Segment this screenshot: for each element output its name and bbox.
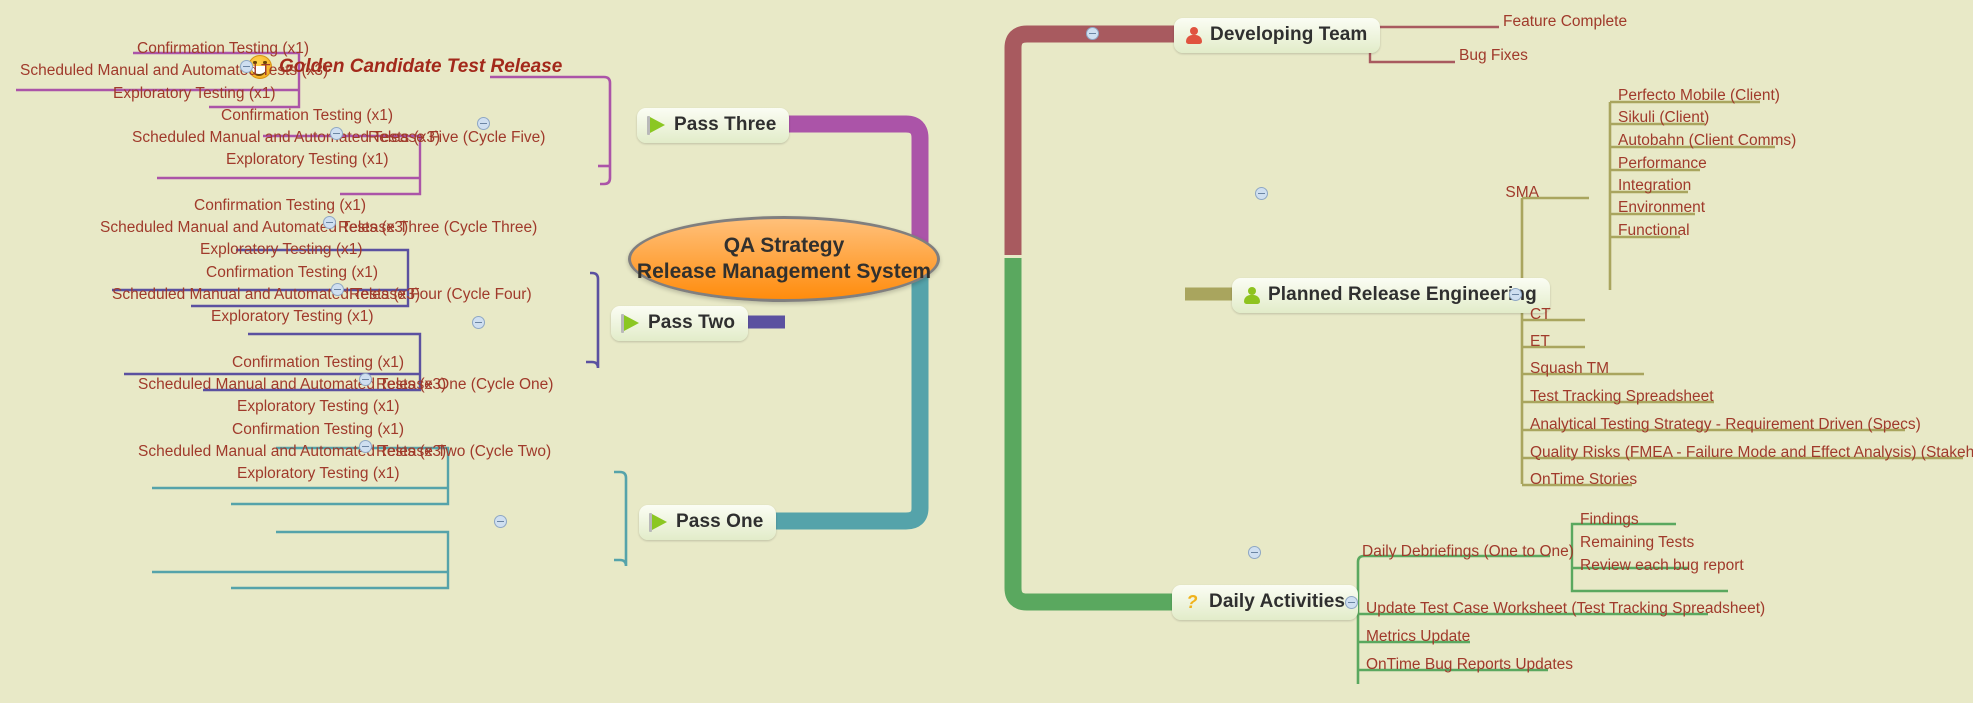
green-flag-icon (647, 116, 667, 135)
leaf-ontime-bug-reports-updates[interactable]: OnTime Bug Reports Updates (1362, 655, 1577, 676)
main-topic-pass-two[interactable]: Pass Two (611, 306, 748, 341)
leaf-exploratory-testing[interactable]: Exploratory Testing (x1) (196, 240, 367, 261)
root-title-line2: Release Management System (637, 259, 931, 285)
person-icon (1242, 286, 1261, 305)
leaf-findings[interactable]: Findings (1576, 510, 1643, 531)
collapse-toggle-pass-one[interactable] (494, 515, 507, 528)
leaf-test-tracking-spreadsheet[interactable]: Test Tracking Spreadsheet (1526, 387, 1718, 408)
leaf-ct[interactable]: CT (1526, 305, 1555, 326)
leaf-exploratory-testing[interactable]: Exploratory Testing (x1) (109, 84, 280, 105)
leaf-scheduled-tests[interactable]: Scheduled Manual and Automated Tests (x3… (134, 442, 450, 463)
leaf-ontime-stories[interactable]: OnTime Stories (1526, 470, 1641, 491)
leaf-scheduled-tests[interactable]: Scheduled Manual and Automated Tests (x3… (96, 218, 412, 239)
leaf-functional[interactable]: Functional (1614, 221, 1694, 242)
main-topic-label: Developing Team (1210, 24, 1367, 46)
collapse-toggle-golden-candidate[interactable] (240, 60, 253, 73)
collapse-toggle-sma[interactable] (1255, 187, 1268, 200)
collapse-toggle-developing-team[interactable] (1086, 27, 1099, 40)
root-title-line1: QA Strategy (724, 233, 845, 259)
collapse-toggle-daily-activities[interactable] (1345, 596, 1358, 609)
question-mark-icon: ? (1182, 592, 1202, 612)
leaf-et[interactable]: ET (1526, 332, 1554, 353)
leaf-exploratory-testing[interactable]: Exploratory Testing (x1) (233, 464, 404, 485)
leaf-exploratory-testing[interactable]: Exploratory Testing (x1) (207, 307, 378, 328)
main-topic-label: Pass Three (674, 114, 776, 136)
topic-sma[interactable]: SMA (1475, 183, 1543, 204)
collapse-toggle-pass-three[interactable] (477, 117, 490, 130)
leaf-scheduled-tests[interactable]: Scheduled Manual and Automated Tests (x3… (16, 61, 332, 82)
main-topic-pass-three[interactable]: Pass Three (637, 108, 789, 143)
leaf-scheduled-tests[interactable]: Scheduled Manual and Automated Tests (x3… (134, 375, 450, 396)
collapse-toggle-release-five[interactable] (330, 127, 343, 140)
leaf-review-each-bug-report[interactable]: Review each bug report (1576, 556, 1748, 577)
leaf-sikuli[interactable]: Sikuli (Client) (1614, 108, 1713, 129)
collapse-toggle-release-four[interactable] (331, 283, 344, 296)
leaf-confirmation-testing[interactable]: Confirmation Testing (x1) (228, 353, 408, 374)
collapse-toggle-daily-debriefings[interactable] (1248, 546, 1261, 559)
leaf-environment[interactable]: Environment (1614, 198, 1709, 219)
main-topic-label: Pass One (676, 511, 763, 533)
green-flag-icon (649, 513, 669, 532)
leaf-scheduled-tests[interactable]: Scheduled Manual and Automated Tests (x3… (108, 285, 424, 306)
leaf-bug-fixes[interactable]: Bug Fixes (1455, 46, 1532, 67)
collapse-toggle-release-two[interactable] (359, 440, 372, 453)
leaf-quality-risks[interactable]: Quality Risks (FMEA - Failure Mode and E… (1526, 443, 1973, 464)
leaf-integration[interactable]: Integration (1614, 176, 1695, 197)
leaf-exploratory-testing[interactable]: Exploratory Testing (x1) (233, 397, 404, 418)
main-topic-daily-activities[interactable]: ? Daily Activities (1172, 585, 1358, 620)
person-icon (1184, 26, 1203, 45)
leaf-squash-tm[interactable]: Squash TM (1526, 359, 1613, 380)
main-topic-label: Pass Two (648, 312, 735, 334)
root-node[interactable]: QA Strategy Release Management System (628, 216, 940, 302)
leaf-remaining-tests[interactable]: Remaining Tests (1576, 533, 1698, 554)
leaf-confirmation-testing[interactable]: Confirmation Testing (x1) (228, 420, 408, 441)
collapse-toggle-release-three[interactable] (323, 216, 336, 229)
leaf-analytical-testing-strategy[interactable]: Analytical Testing Strategy - Requiremen… (1526, 415, 1925, 436)
leaf-perfecto-mobile[interactable]: Perfecto Mobile (Client) (1614, 86, 1784, 107)
main-topic-label: Daily Activities (1209, 591, 1345, 613)
leaf-confirmation-testing[interactable]: Confirmation Testing (x1) (133, 39, 313, 60)
leaf-performance[interactable]: Performance (1614, 154, 1711, 175)
leaf-confirmation-testing[interactable]: Confirmation Testing (x1) (202, 263, 382, 284)
main-topic-developing-team[interactable]: Developing Team (1174, 18, 1380, 53)
main-topic-planned-release-engineering[interactable]: Planned Release Engineering (1232, 278, 1550, 313)
topic-daily-debriefings[interactable]: Daily Debriefings (One to One) (1358, 542, 1558, 563)
main-topic-pass-one[interactable]: Pass One (639, 505, 776, 540)
mindmap-canvas: QA Strategy Release Management System De… (0, 0, 1973, 703)
leaf-metrics-update[interactable]: Metrics Update (1362, 627, 1474, 648)
leaf-update-test-case-worksheet[interactable]: Update Test Case Worksheet (Test Trackin… (1362, 599, 1769, 620)
collapse-toggle-release-one[interactable] (359, 373, 372, 386)
leaf-confirmation-testing[interactable]: Confirmation Testing (x1) (190, 196, 370, 217)
collapse-toggle-pass-two[interactable] (472, 316, 485, 329)
leaf-exploratory-testing[interactable]: Exploratory Testing (x1) (222, 150, 393, 171)
main-topic-label: Planned Release Engineering (1268, 284, 1537, 306)
leaf-confirmation-testing[interactable]: Confirmation Testing (x1) (217, 106, 397, 127)
green-flag-icon (621, 314, 641, 333)
leaf-autobahn[interactable]: Autobahn (Client Comms) (1614, 131, 1800, 152)
leaf-scheduled-tests[interactable]: Scheduled Manual and Automated Tests (x3… (128, 128, 444, 149)
leaf-feature-complete[interactable]: Feature Complete (1499, 12, 1631, 33)
collapse-toggle-planned-release[interactable] (1509, 288, 1522, 301)
